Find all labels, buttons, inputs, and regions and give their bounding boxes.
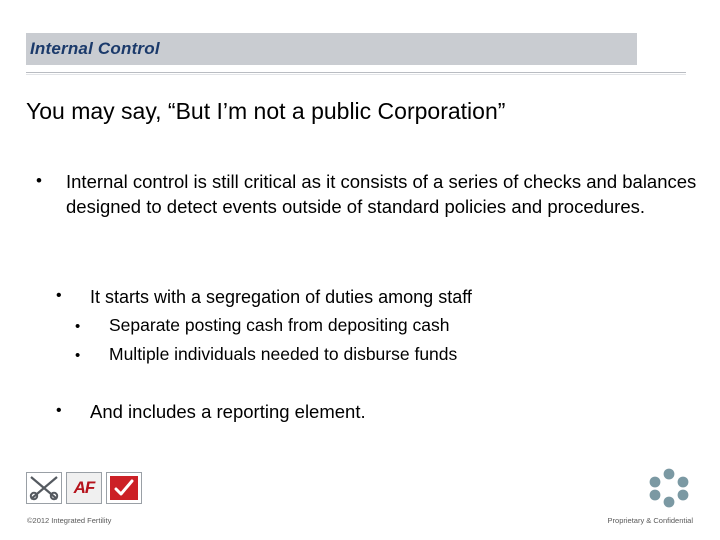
- page-title: Internal Control: [30, 39, 160, 59]
- bullet-marker: •: [36, 170, 48, 193]
- bullet-item-1: • Internal control is still critical as …: [26, 170, 676, 220]
- footer-logo-row: AF: [26, 472, 142, 504]
- scissors-logo-icon: [26, 472, 62, 504]
- af-logo-label: AF: [67, 473, 101, 503]
- bullet-text: And includes a reporting element.: [90, 400, 666, 425]
- main-heading: You may say, “But I’m not a public Corpo…: [26, 98, 696, 124]
- footer-copyright: ©2012 Integrated Fertility: [27, 516, 111, 525]
- header-divider-shadow: [26, 74, 686, 75]
- bullet-text: Multiple individuals needed to disburse …: [109, 344, 457, 364]
- header-divider: [26, 72, 686, 73]
- bullet-marker: •: [75, 317, 109, 337]
- bullet-text: Internal control is still critical as it…: [66, 170, 701, 220]
- hexagon-dots-logo-icon: [646, 468, 692, 508]
- check-mark-icon: [110, 476, 138, 500]
- bullet-marker: •: [75, 346, 109, 366]
- bullet-item-2: • It starts with a segregation of duties…: [26, 285, 666, 309]
- footer-confidentiality: Proprietary & Confidential: [608, 516, 693, 525]
- bullet-text: It starts with a segregation of duties a…: [90, 285, 666, 309]
- af-logo-icon: AF: [66, 472, 102, 504]
- bullet-text: Separate posting cash from depositing ca…: [109, 315, 449, 335]
- bullet-marker: •: [56, 285, 62, 307]
- bullet-item-4: •Multiple individuals needed to disburse…: [75, 343, 457, 367]
- slide-canvas: Internal Control You may say, “But I’m n…: [0, 0, 720, 540]
- bullet-item-3: •Separate posting cash from depositing c…: [75, 314, 449, 338]
- bullet-item-5: • And includes a reporting element.: [26, 400, 666, 425]
- red-check-logo-icon: [106, 472, 142, 504]
- bullet-marker: •: [56, 400, 62, 422]
